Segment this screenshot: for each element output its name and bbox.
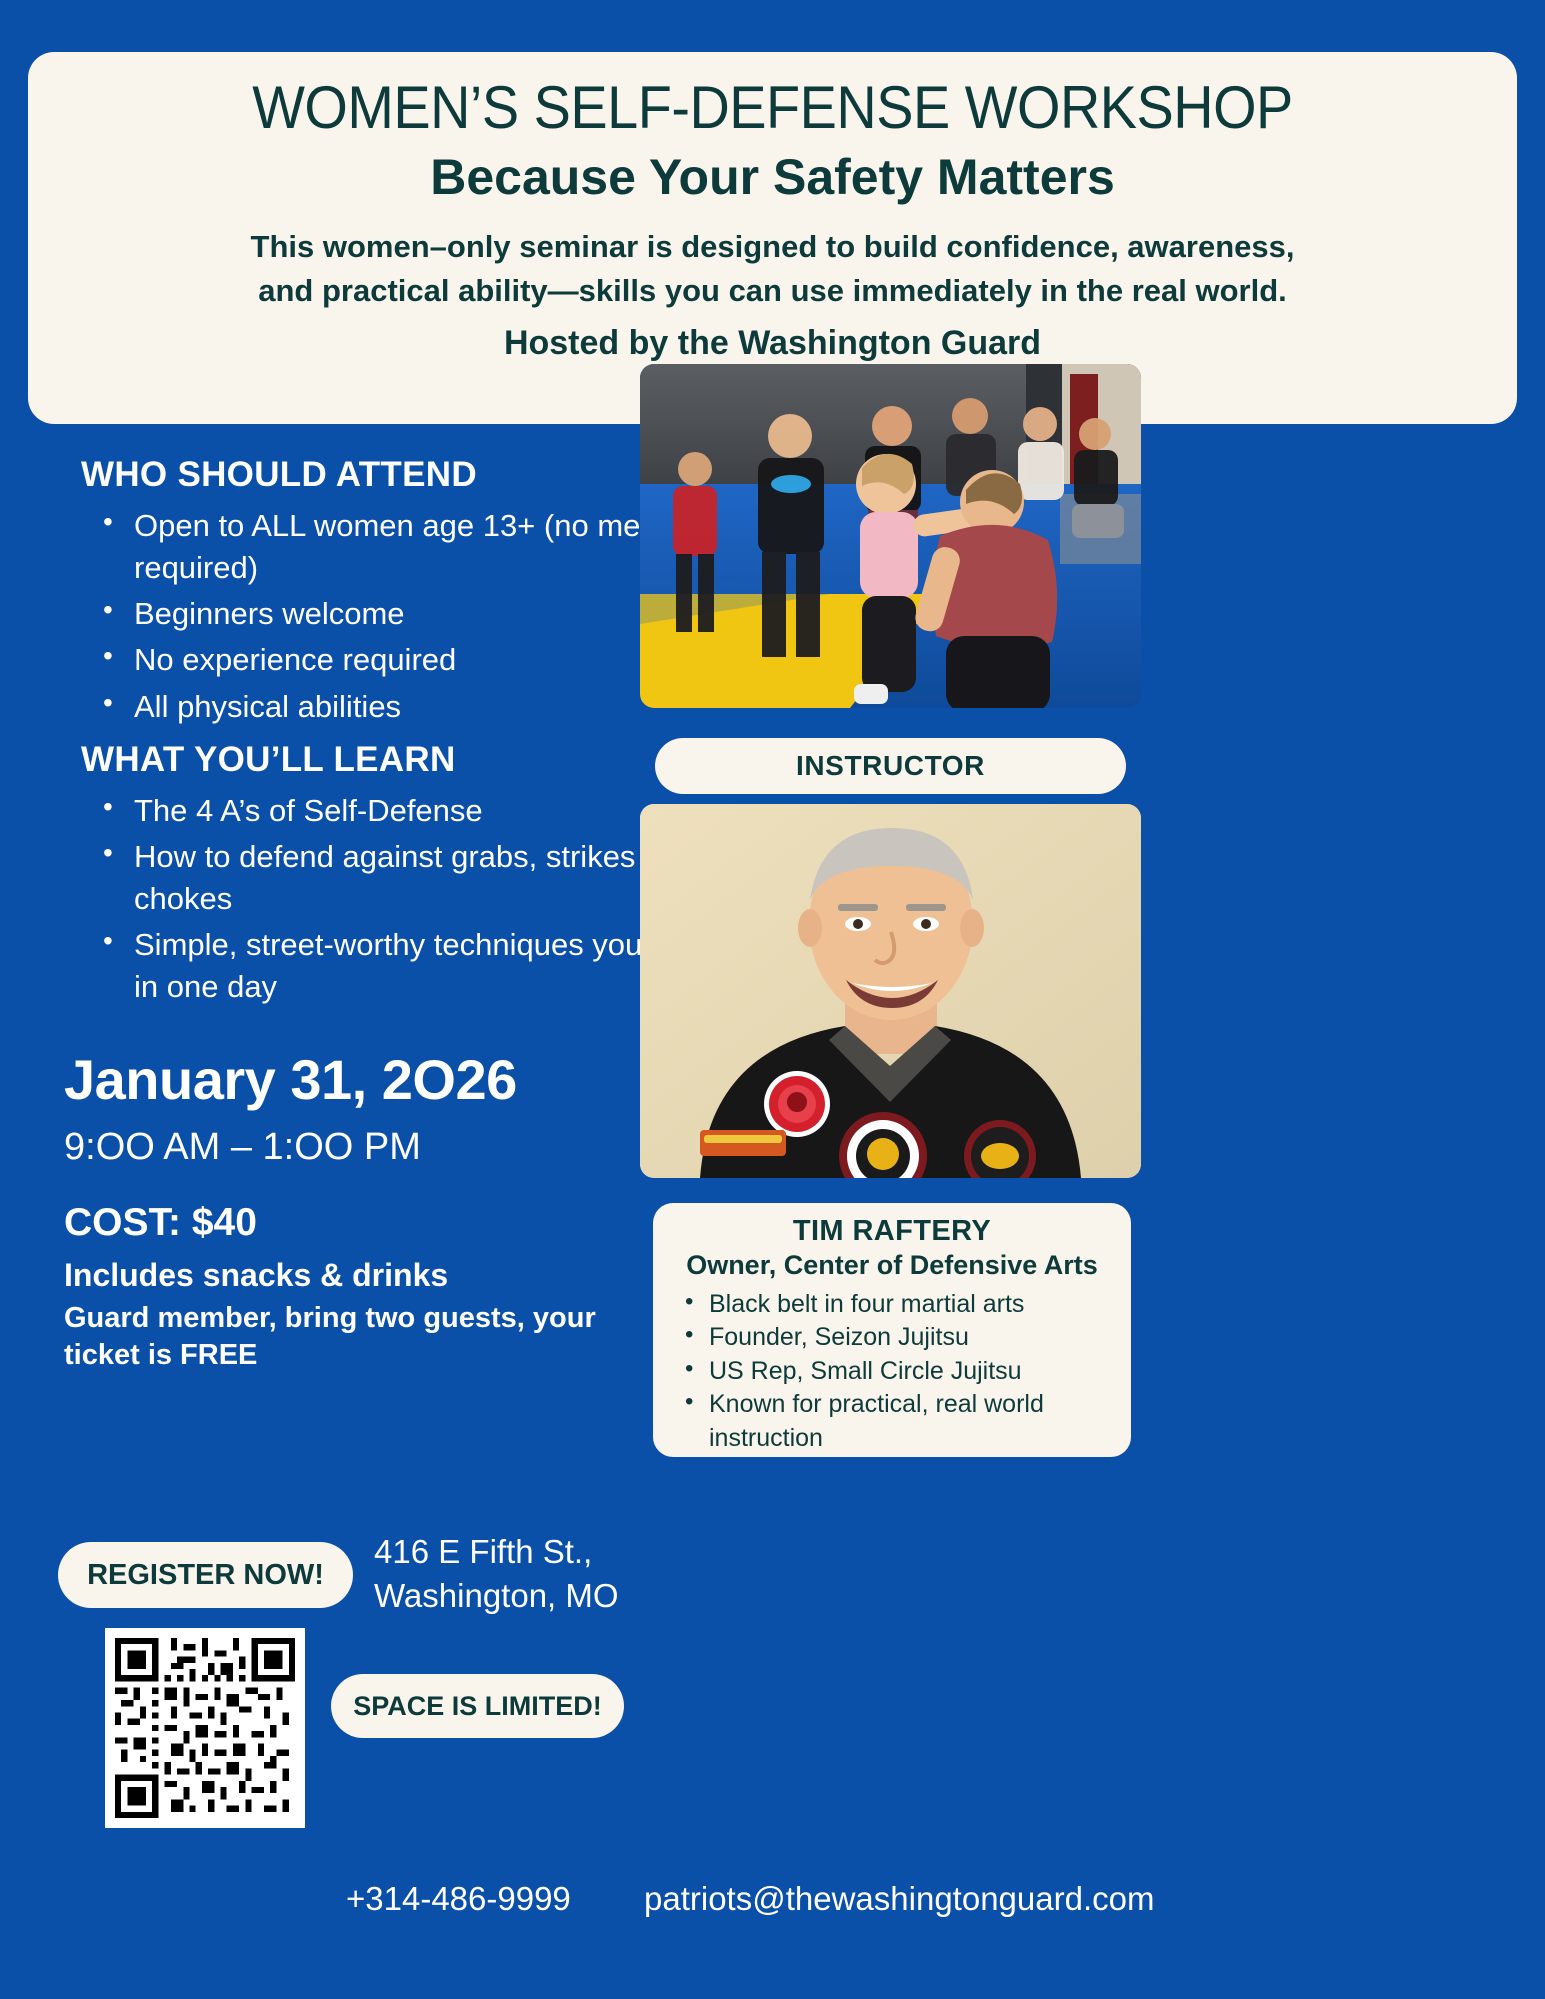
register-now-button[interactable]: REGISTER NOW! — [58, 1542, 353, 1608]
guard-member-note: Guard member, bring two guests, your tic… — [64, 1300, 664, 1375]
header-description: This women–only seminar is designed to b… — [68, 225, 1477, 315]
address-line-1: 416 E Fifth St., — [374, 1530, 619, 1574]
instructor-credentials-list: Black belt in four martial arts Founder,… — [681, 1288, 1115, 1456]
contact-email[interactable]: patriots@thewashingtonguard.com — [644, 1880, 1154, 1918]
flyer-page: WOMEN’S SELF-DEFENSE WORKSHOP Because Yo… — [0, 0, 1545, 1999]
qr-code-graphic — [115, 1638, 295, 1818]
header-description-line2: and practical ability—skills you can use… — [68, 269, 1477, 314]
instructor-name: TIM RAFTERY — [669, 1215, 1115, 1248]
space-is-limited-badge[interactable]: SPACE IS LIMITED! — [331, 1674, 624, 1738]
venue-address: 416 E Fifth St., Washington, MO — [374, 1530, 619, 1617]
instructor-photo-graphic — [640, 804, 1141, 1178]
page-subtitle: Because Your Safety Matters — [68, 146, 1477, 209]
instructor-pill-label: INSTRUCTOR — [655, 738, 1126, 794]
instructor-bio-card: TIM RAFTERY Owner, Center of Defensive A… — [653, 1203, 1131, 1457]
class-photo-graphic — [640, 364, 1141, 708]
instructor-portrait-photo — [640, 804, 1141, 1178]
class-training-photo — [640, 364, 1141, 708]
list-item: Known for practical, real world instruct… — [681, 1388, 1115, 1455]
list-item: Founder, Seizon Jujitsu — [681, 1321, 1115, 1355]
qr-code-icon[interactable] — [105, 1628, 305, 1828]
contact-phone[interactable]: +314-486-9999 — [346, 1880, 571, 1918]
page-title: WOMEN’S SELF-DEFENSE WORKSHOP — [117, 78, 1427, 138]
list-item: Black belt in four martial arts — [681, 1288, 1115, 1322]
instructor-role: Owner, Center of Defensive Arts — [669, 1249, 1115, 1281]
header-description-line1: This women–only seminar is designed to b… — [68, 225, 1477, 270]
hosted-by-text: Hosted by the Washington Guard — [68, 320, 1477, 368]
address-line-2: Washington, MO — [374, 1574, 619, 1618]
list-item: US Rep, Small Circle Jujitsu — [681, 1355, 1115, 1389]
